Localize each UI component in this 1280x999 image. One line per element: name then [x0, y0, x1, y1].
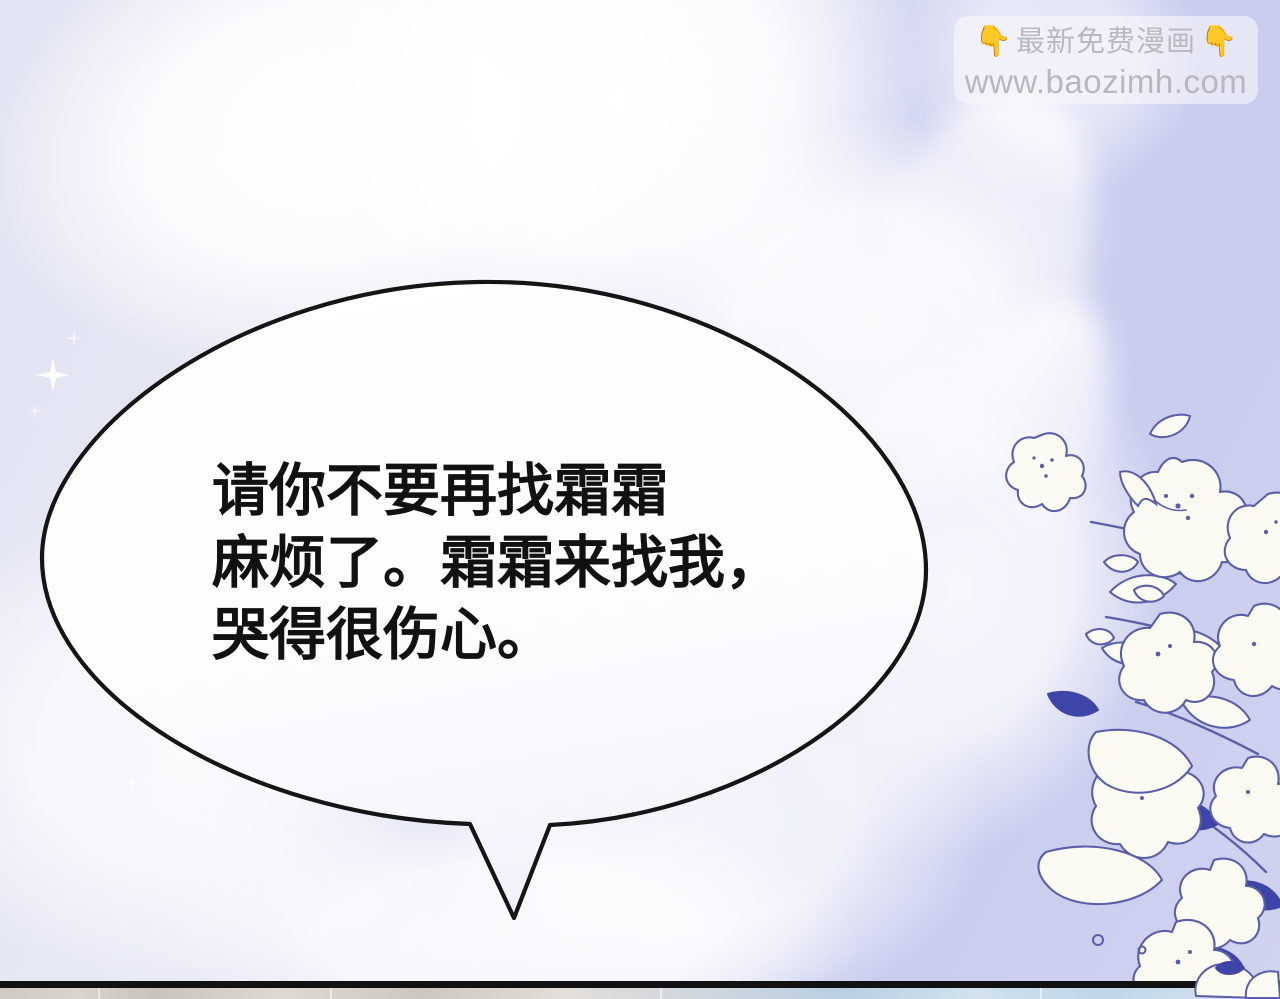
comic-panel: 请你不要再找霜霜 麻烦了。霜霜来找我， 哭得很伤心。 👇 最新免费漫画 👇 ww…	[0, 0, 1280, 999]
watermark-badge: 👇 最新免费漫画 👇 www.baozimh.com	[954, 16, 1258, 104]
tile-seam	[1040, 988, 1042, 999]
speech-bubble-text: 请你不要再找霜霜 麻烦了。霜霜来找我， 哭得很伤心。	[212, 455, 872, 671]
tile-seam	[98, 988, 100, 999]
next-panel-preview	[0, 988, 1280, 999]
tile-seam	[330, 988, 332, 999]
pointing-down-hand-icon: 👇	[975, 27, 1012, 57]
watermark-promo-text: 最新免费漫画	[1016, 27, 1196, 56]
watermark-promo-row: 👇 最新免费漫画 👇	[975, 23, 1238, 61]
panel-divider	[0, 981, 1280, 988]
pointing-down-hand-icon: 👇	[1200, 27, 1237, 57]
watermark-url: www.baozimh.com	[965, 65, 1248, 98]
tile-seam	[660, 988, 662, 999]
